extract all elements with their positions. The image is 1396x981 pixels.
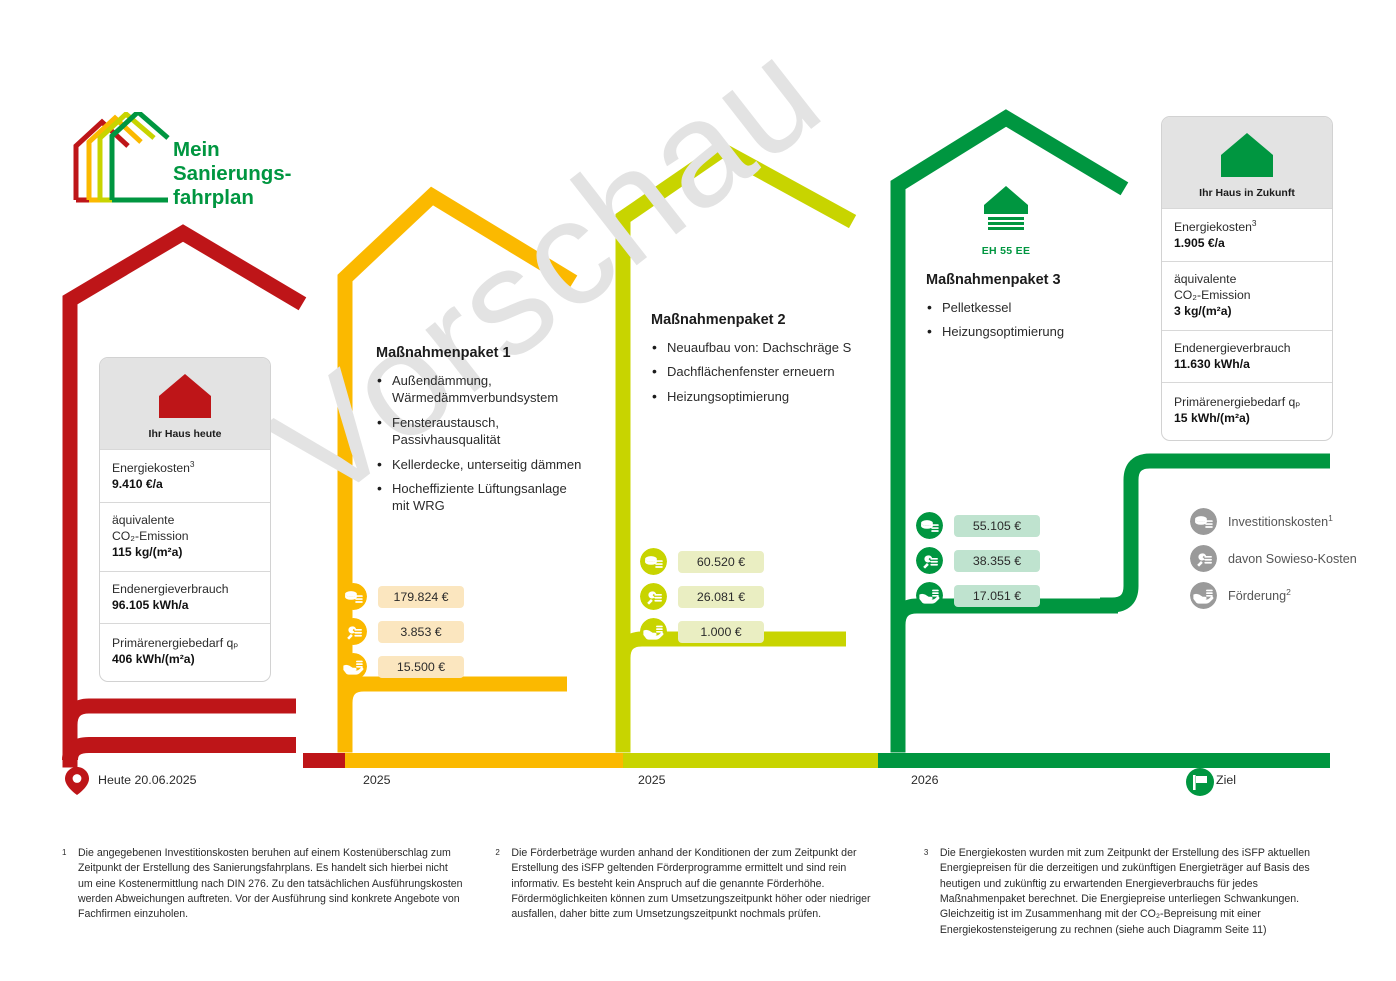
coins-icon: [340, 583, 367, 610]
package-1-measure-list: Außendämmung, Wärmedämmverbundsystem Fen…: [376, 372, 591, 515]
card-future-header: Ihr Haus in Zukunft: [1162, 117, 1332, 208]
logo-houses-icon: [68, 112, 173, 210]
footnote-1-text: Die angegebenen Investitionskosten beruh…: [78, 846, 465, 938]
footnote-ref: 1: [1328, 513, 1333, 523]
card-future-row-endenergie: Endenergieverbrauch 11.630 kWh/a: [1162, 330, 1332, 382]
timeline-tick-1: 2025: [363, 773, 391, 787]
package-1-costs: 179.824 € 3.853 € 15.500 €: [340, 583, 464, 688]
coins-icon: [640, 548, 667, 575]
list-item: Heizungsoptimierung: [926, 323, 1136, 340]
cost-row-sowieso: 3.853 €: [340, 618, 464, 645]
footnote-2-text: Die Förderbeträge wurden anhand der Kond…: [511, 846, 893, 938]
footnote-ref: 3: [190, 459, 195, 469]
package-2: Maßnahmenpaket 2 Neuaufbau von: Dachschr…: [651, 312, 881, 412]
timeline-tick-2: 2025: [638, 773, 666, 787]
legend-label-text: davon Sowieso-Kosten: [1228, 552, 1357, 566]
list-item: Fensteraustausch, Passivhausqualität: [376, 414, 591, 449]
card-today-title: Ihr Haus heute: [108, 428, 262, 440]
package-1: Maßnahmenpaket 1 Außendämmung, Wärmedämm…: [376, 345, 591, 522]
timeline-start-label: Heute 20.06.2025: [98, 773, 197, 787]
efficiency-house-label: EH 55 EE: [946, 245, 1066, 257]
card-today-row-primaerenergie: Primärenergiebedarf qₚ 406 kWh/(m²a): [100, 623, 270, 681]
footnotes: 1 Die angegebenen Investitionskosten ber…: [62, 846, 1342, 938]
list-item: Neuaufbau von: Dachschräge S: [651, 339, 881, 356]
wrench-coins-icon: [640, 583, 667, 610]
cost-row-investment: 179.824 €: [340, 583, 464, 610]
footnote-3-marker: 3: [924, 846, 940, 938]
cost-value: 60.520 €: [678, 551, 764, 573]
cost-row-foerderung: 17.051 €: [916, 582, 1040, 609]
card-today-row-co2: äquivalente CO₂-Emission 115 kg/(m²a): [100, 502, 270, 570]
sanierungsfahrplan-page: Vorschau Mein Sanierungs- fahrplan: [0, 0, 1396, 981]
package-3-title: Maßnahmenpaket 3: [926, 272, 1136, 288]
cost-value: 179.824 €: [378, 586, 464, 608]
footnote-1-marker: 1: [62, 846, 78, 938]
list-item: Heizungsoptimierung: [651, 388, 881, 405]
legend-item-sowieso-kosten: davon Sowieso-Kosten: [1190, 545, 1357, 572]
cost-row-sowieso: 38.355 €: [916, 547, 1040, 574]
wrench-coins-icon: [916, 547, 943, 574]
legend-item-foerderung: Förderung2: [1190, 582, 1357, 609]
cost-value: 26.081 €: [678, 586, 764, 608]
wrench-coins-icon: [1190, 545, 1217, 572]
cost-row-investment: 55.105 €: [916, 512, 1040, 539]
cost-row-foerderung: 15.500 €: [340, 653, 464, 680]
timeline-tick-3: 2026: [911, 773, 939, 787]
footnote-3-text: Die Energiekosten wurden mit zum Zeitpun…: [940, 846, 1342, 938]
flag-goal-icon: [1186, 768, 1214, 796]
brand-logo: Mein Sanierungs- fahrplan: [68, 112, 318, 212]
package-2-title: Maßnahmenpaket 2: [651, 312, 881, 328]
package-2-costs: 60.520 € 26.081 € 1.000 €: [640, 548, 764, 653]
card-future-row-energiekosten: Energiekosten3 1.905 €/a: [1162, 208, 1332, 261]
card-today-row-endenergie: Endenergieverbrauch 96.105 kWh/a: [100, 571, 270, 623]
cost-value: 17.051 €: [954, 585, 1040, 607]
package-3: Maßnahmenpaket 3 Pelletkessel Heizungsop…: [926, 272, 1136, 348]
footnote-ref: 2: [1286, 587, 1291, 597]
house-icon-red: [157, 372, 213, 420]
location-pin-icon: [64, 766, 90, 796]
footnote-2-marker: 2: [495, 846, 511, 938]
card-house-today: Ihr Haus heute Energiekosten3 9.410 €/a …: [99, 357, 271, 682]
cost-row-sowieso: 26.081 €: [640, 583, 764, 610]
list-item: Kellerdecke, unterseitig dämmen: [376, 456, 591, 473]
card-future-row-co2: äquivalente CO₂-Emission 3 kg/(m²a): [1162, 261, 1332, 329]
card-today-header: Ihr Haus heute: [100, 358, 270, 449]
list-item: Hocheffiziente Lüftungsanlage mit WRG: [376, 480, 591, 515]
package-3-measure-list: Pelletkessel Heizungsoptimierung: [926, 299, 1136, 341]
legend-label-text: Investitionskosten: [1228, 516, 1328, 530]
cost-value: 3.853 €: [378, 621, 464, 643]
package-1-title: Maßnahmenpaket 1: [376, 345, 591, 361]
package-3-costs: 55.105 € 38.355 € 17.051 €: [916, 512, 1040, 617]
footnote-2: 2 Die Förderbeträge wurden anhand der Ko…: [495, 846, 893, 938]
footnote-ref: 3: [1252, 218, 1257, 228]
efficiency-house-badge: EH 55 EE: [946, 185, 1066, 257]
timeline-end-label: Ziel: [1216, 773, 1236, 787]
cost-legend: Investitionskosten1 davon Sowieso-Kosten…: [1190, 508, 1357, 619]
coins-icon: [1190, 508, 1217, 535]
cost-row-investment: 60.520 €: [640, 548, 764, 575]
hand-coins-icon: [340, 653, 367, 680]
cost-value: 15.500 €: [378, 656, 464, 678]
hand-coins-icon: [640, 618, 667, 645]
footnote-1: 1 Die angegebenen Investitionskosten ber…: [62, 846, 465, 938]
card-future-title: Ihr Haus in Zukunft: [1170, 187, 1324, 199]
card-future-row-primaerenergie: Primärenergiebedarf qₚ 15 kWh/(m²a): [1162, 382, 1332, 440]
card-today-row-energiekosten: Energiekosten3 9.410 €/a: [100, 449, 270, 502]
cost-value: 55.105 €: [954, 515, 1040, 537]
wrench-coins-icon: [340, 618, 367, 645]
cost-value: 38.355 €: [954, 550, 1040, 572]
hand-coins-icon: [916, 582, 943, 609]
package-2-measure-list: Neuaufbau von: Dachschräge S Dachflächen…: [651, 339, 881, 405]
list-item: Dachflächenfenster erneuern: [651, 363, 881, 380]
efficiency-house-icon: [980, 185, 1032, 235]
cost-row-foerderung: 1.000 €: [640, 618, 764, 645]
legend-item-investitionskosten: Investitionskosten1: [1190, 508, 1357, 535]
logo-wordmark: Mein Sanierungs- fahrplan: [173, 138, 291, 211]
coins-icon: [916, 512, 943, 539]
list-item: Außendämmung, Wärmedämmverbundsystem: [376, 372, 591, 407]
list-item: Pelletkessel: [926, 299, 1136, 316]
hand-coins-icon: [1190, 582, 1217, 609]
cost-value: 1.000 €: [678, 621, 764, 643]
card-house-future: Ihr Haus in Zukunft Energiekosten3 1.905…: [1161, 116, 1333, 441]
footnote-3: 3 Die Energiekosten wurden mit zum Zeitp…: [924, 846, 1342, 938]
legend-label-text: Förderung: [1228, 590, 1286, 604]
house-icon-green: [1219, 131, 1275, 179]
